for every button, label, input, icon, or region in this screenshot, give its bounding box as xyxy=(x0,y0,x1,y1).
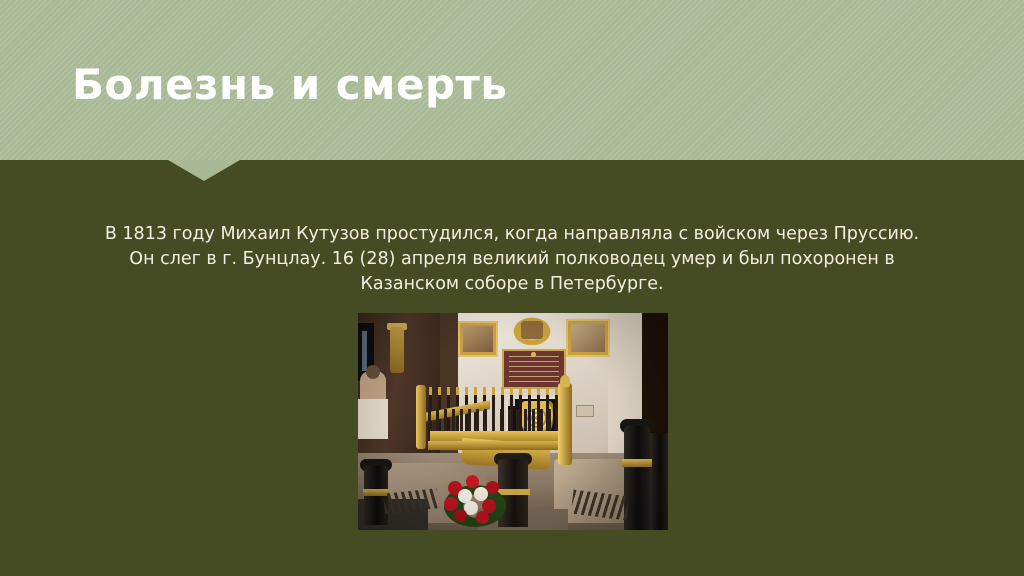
body-text-block: В 1813 году Михаил Кутузов простудился, … xyxy=(62,222,962,297)
tomb-photograph xyxy=(358,313,668,530)
body-text-line-3: Казанском соборе в Петербурге. xyxy=(62,272,962,297)
title-banner: Болезнь и смерть xyxy=(0,0,1024,160)
body-text-line-1: В 1813 году Михаил Кутузов простудился, … xyxy=(62,222,962,247)
page-title: Болезнь и смерть xyxy=(72,60,507,109)
body-text-line-2: Он слег в г. Бунцлау. 16 (28) апреля вел… xyxy=(62,247,962,272)
banner-notch-triangle xyxy=(168,160,240,181)
presentation-slide: Болезнь и смерть В 1813 году Михаил Куту… xyxy=(0,0,1024,576)
